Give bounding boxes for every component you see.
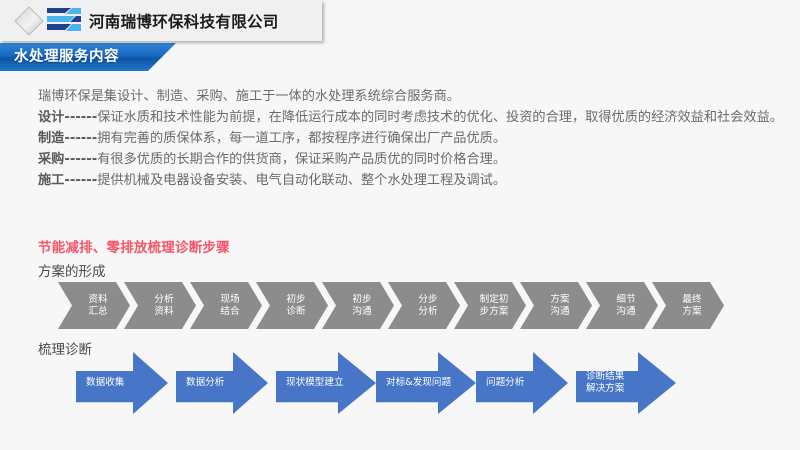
plan-section-label: 方案的形成 <box>38 260 106 280</box>
diagnosis-step-arrow[interactable]: 数据分析 <box>176 352 268 414</box>
body-item-dashes: ------ <box>64 152 97 167</box>
body-item-text: 拥有完善的质保体系，每一道工序，都按程序进行确保出厂产品优质。 <box>97 131 506 146</box>
body-item-term: 采购 <box>38 152 64 167</box>
diagnosis-step-arrow[interactable]: 诊断结果 解决方案 <box>576 352 676 414</box>
body-item-dashes: ------ <box>64 173 97 188</box>
plan-step-label: 分步 分析 <box>410 294 437 318</box>
plan-step-chevron[interactable]: 分步 分析 <box>388 282 460 329</box>
diagnosis-step-arrow[interactable]: 现状模型建立 <box>276 352 376 414</box>
diagnosis-step-label: 对标&发现问题 <box>376 377 451 389</box>
plan-step-label: 资料 汇总 <box>80 294 107 318</box>
diagnosis-step-arrow[interactable]: 问题分析 <box>476 352 568 414</box>
plan-step-chevron[interactable]: 资料 汇总 <box>58 282 130 329</box>
body-item-term: 制造 <box>38 131 64 146</box>
plan-step-chevron[interactable]: 现场 结合 <box>190 282 262 329</box>
plan-step-label: 制定初 步方案 <box>472 294 509 318</box>
plan-step-label: 最终 方案 <box>674 294 701 318</box>
plan-step-label: 初步 沟通 <box>344 294 371 318</box>
diagnosis-step-arrow[interactable]: 数据收集 <box>76 352 168 414</box>
plan-step-chevron[interactable]: 初步 诊断 <box>256 282 328 329</box>
section-banner: 水处理服务内容 <box>0 43 176 71</box>
red-heading: 节能减排、零排放梳理诊断步骤 <box>38 236 230 256</box>
body-item-2: 采购------有很多优质的长期合作的供货商，保证采购产品质优的同时价格合理。 <box>38 149 786 170</box>
diagnosis-step-label: 数据收集 <box>76 377 124 389</box>
diagnosis-step-label: 现状模型建立 <box>276 377 344 389</box>
plan-step-chevron[interactable]: 最终 方案 <box>652 282 724 329</box>
plan-step-label: 现场 结合 <box>212 294 239 318</box>
plan-step-chevron[interactable]: 方案 沟通 <box>520 282 592 329</box>
plan-step-label: 方案 沟通 <box>542 294 569 318</box>
diagnosis-step-arrow[interactable]: 对标&发现问题 <box>376 352 476 414</box>
plan-step-chevron-row: 资料 汇总分析 资料现场 结合初步 诊断初步 沟通分步 分析制定初 步方案方案 … <box>58 282 788 329</box>
body-copy: 瑞博环保是集设计、制造、采购、施工于一体的水处理系统综合服务商。 设计-----… <box>38 86 786 191</box>
body-item-text: 保证水质和技术性能为前提，在降低运行成本的同时考虑技术的优化、投资的合理，取得优… <box>97 110 783 125</box>
plan-step-label: 细节 沟通 <box>608 294 635 318</box>
logo-plaque: 河南瑞博环保科技有限公司 <box>0 0 322 41</box>
diagnosis-step-arrow-row: 数据收集数据分析现状模型建立对标&发现问题问题分析诊断结果 解决方案 <box>58 352 798 414</box>
diagnosis-step-label: 数据分析 <box>176 377 224 389</box>
body-item-text: 提供机械及电器设备安装、电气自动化联动、整个水处理工程及调试。 <box>97 173 506 188</box>
diagnosis-step-label: 问题分析 <box>476 377 524 389</box>
banner-label: 水处理服务内容 <box>14 43 119 71</box>
body-item-0: 设计------保证水质和技术性能为前提，在降低运行成本的同时考虑技术的优化、投… <box>38 107 786 128</box>
body-item-dashes: ------ <box>64 131 97 146</box>
plan-step-chevron[interactable]: 细节 沟通 <box>586 282 658 329</box>
company-name: 河南瑞博环保科技有限公司 <box>89 10 279 32</box>
plan-step-chevron[interactable]: 初步 沟通 <box>322 282 394 329</box>
plan-step-chevron[interactable]: 分析 资料 <box>124 282 196 329</box>
body-item-dashes: ------ <box>64 110 97 125</box>
body-item-term: 施工 <box>38 173 64 188</box>
diagnosis-step-label: 诊断结果 解决方案 <box>576 371 624 395</box>
body-item-3: 施工------提供机械及电器设备安装、电气自动化联动、整个水处理工程及调试。 <box>38 170 786 191</box>
body-item-text: 有很多优质的长期合作的供货商，保证采购产品质优的同时价格合理。 <box>97 152 506 167</box>
plan-step-chevron[interactable]: 制定初 步方案 <box>454 282 526 329</box>
body-item-1: 制造------拥有完善的质保体系，每一道工序，都按程序进行确保出厂产品优质。 <box>38 128 786 149</box>
plan-step-label: 初步 诊断 <box>278 294 305 318</box>
diamond-waves-logo-icon <box>13 5 83 37</box>
plan-step-label: 分析 资料 <box>146 294 173 318</box>
intro-paragraph: 瑞博环保是集设计、制造、采购、施工于一体的水处理系统综合服务商。 <box>38 86 786 107</box>
slide-canvas: 河南瑞博环保科技有限公司 水处理服务内容 瑞博环保是集设计、制造、采购、施工于一… <box>0 0 800 450</box>
body-item-term: 设计 <box>38 110 64 125</box>
